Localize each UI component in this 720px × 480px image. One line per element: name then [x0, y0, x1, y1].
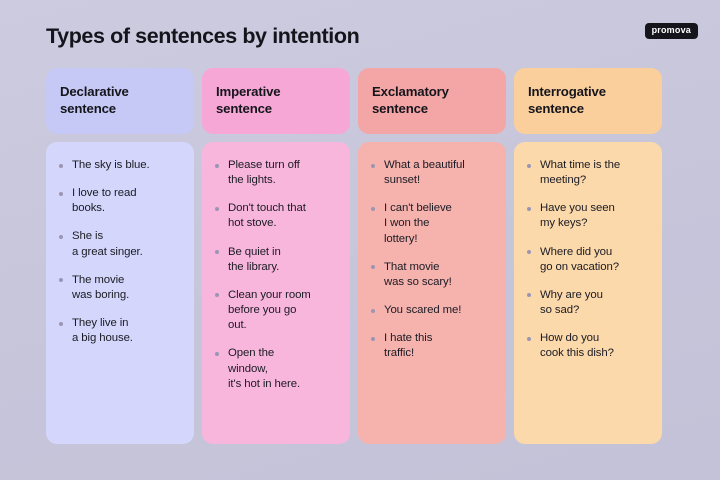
promova-logo: promova: [645, 23, 698, 39]
list-item: That movie was so scary!: [371, 260, 496, 290]
column-header-imperative: Imperative sentence: [202, 68, 350, 134]
list-item: Clean your room before you go out.: [215, 288, 340, 333]
column-body-imperative: Please turn off the lights. Don't touch …: [202, 142, 350, 444]
column-title-imperative: Imperative sentence: [216, 84, 337, 118]
column-header-exclamatory: Exclamatory sentence: [358, 68, 506, 134]
list-item: What time is the meeting?: [527, 158, 652, 188]
bullet-icon: [215, 352, 219, 356]
bullet-icon: [527, 207, 531, 211]
bullet-icon: [59, 278, 63, 282]
list-item-text: Have you seen my keys?: [540, 201, 652, 231]
list-item-text: They live in a big house.: [72, 316, 184, 346]
column-header-interrogative: Interrogative sentence: [514, 68, 662, 134]
list-item: They live in a big house.: [59, 316, 184, 346]
list-item-text: The movie was boring.: [72, 273, 184, 303]
list-item-text: Open the window, it's hot in here.: [228, 346, 340, 391]
column-header-declarative: Declarative sentence: [46, 68, 194, 134]
list-item: I can't believe I won the lottery!: [371, 201, 496, 246]
column-title-exclamatory: Exclamatory sentence: [372, 84, 493, 118]
example-list-exclamatory: What a beautiful sunset! I can't believe…: [371, 158, 496, 362]
list-item: Be quiet in the library.: [215, 245, 340, 275]
bullet-icon: [371, 164, 375, 168]
column-declarative: Declarative sentence The sky is blue. I …: [46, 68, 194, 444]
bullet-icon: [527, 293, 531, 297]
list-item-text: I hate this traffic!: [384, 331, 496, 361]
infographic-poster: Types of sentences by intention promova …: [0, 0, 720, 480]
list-item-text: The sky is blue.: [72, 158, 184, 173]
list-item-text: She is a great singer.: [72, 229, 184, 259]
list-item: She is a great singer.: [59, 229, 184, 259]
bullet-icon: [215, 164, 219, 168]
list-item: You scared me!: [371, 303, 496, 318]
page-title: Types of sentences by intention: [46, 24, 359, 49]
bullet-icon: [371, 337, 375, 341]
column-title-declarative: Declarative sentence: [60, 84, 181, 118]
list-item: How do you cook this dish?: [527, 331, 652, 361]
bullet-icon: [527, 164, 531, 168]
list-item: I hate this traffic!: [371, 331, 496, 361]
bullet-icon: [215, 293, 219, 297]
bullet-icon: [371, 265, 375, 269]
bullet-icon: [527, 250, 531, 254]
bullet-icon: [215, 207, 219, 211]
list-item-text: Clean your room before you go out.: [228, 288, 340, 333]
list-item-text: Why are you so sad?: [540, 288, 652, 318]
list-item-text: What a beautiful sunset!: [384, 158, 496, 188]
column-exclamatory: Exclamatory sentence What a beautiful su…: [358, 68, 506, 444]
list-item: The sky is blue.: [59, 158, 184, 173]
list-item: Have you seen my keys?: [527, 201, 652, 231]
list-item: What a beautiful sunset!: [371, 158, 496, 188]
list-item: Where did you go on vacation?: [527, 245, 652, 275]
poster-header: Types of sentences by intention promova: [0, 0, 720, 64]
bullet-icon: [527, 337, 531, 341]
bullet-icon: [59, 322, 63, 326]
list-item-text: What time is the meeting?: [540, 158, 652, 188]
list-item-text: How do you cook this dish?: [540, 331, 652, 361]
bullet-icon: [59, 164, 63, 168]
column-interrogative: Interrogative sentence What time is the …: [514, 68, 662, 444]
list-item: Don't touch that hot stove.: [215, 201, 340, 231]
bullet-icon: [371, 309, 375, 313]
example-list-interrogative: What time is the meeting? Have you seen …: [527, 158, 652, 362]
column-imperative: Imperative sentence Please turn off the …: [202, 68, 350, 444]
example-list-declarative: The sky is blue. I love to read books. S…: [59, 158, 184, 346]
list-item-text: Don't touch that hot stove.: [228, 201, 340, 231]
list-item-text: You scared me!: [384, 303, 496, 318]
bullet-icon: [371, 207, 375, 211]
list-item-text: Please turn off the lights.: [228, 158, 340, 188]
list-item-text: I love to read books.: [72, 186, 184, 216]
list-item-text: I can't believe I won the lottery!: [384, 201, 496, 246]
bullet-icon: [59, 235, 63, 239]
column-body-interrogative: What time is the meeting? Have you seen …: [514, 142, 662, 444]
list-item-text: Be quiet in the library.: [228, 245, 340, 275]
column-body-declarative: The sky is blue. I love to read books. S…: [46, 142, 194, 444]
list-item: I love to read books.: [59, 186, 184, 216]
list-item-text: Where did you go on vacation?: [540, 245, 652, 275]
list-item: Open the window, it's hot in here.: [215, 346, 340, 391]
list-item: Please turn off the lights.: [215, 158, 340, 188]
column-body-exclamatory: What a beautiful sunset! I can't believe…: [358, 142, 506, 444]
sentence-type-columns: Declarative sentence The sky is blue. I …: [46, 68, 680, 444]
bullet-icon: [215, 250, 219, 254]
list-item: The movie was boring.: [59, 273, 184, 303]
bullet-icon: [59, 192, 63, 196]
example-list-imperative: Please turn off the lights. Don't touch …: [215, 158, 340, 392]
list-item-text: That movie was so scary!: [384, 260, 496, 290]
column-title-interrogative: Interrogative sentence: [528, 84, 649, 118]
list-item: Why are you so sad?: [527, 288, 652, 318]
